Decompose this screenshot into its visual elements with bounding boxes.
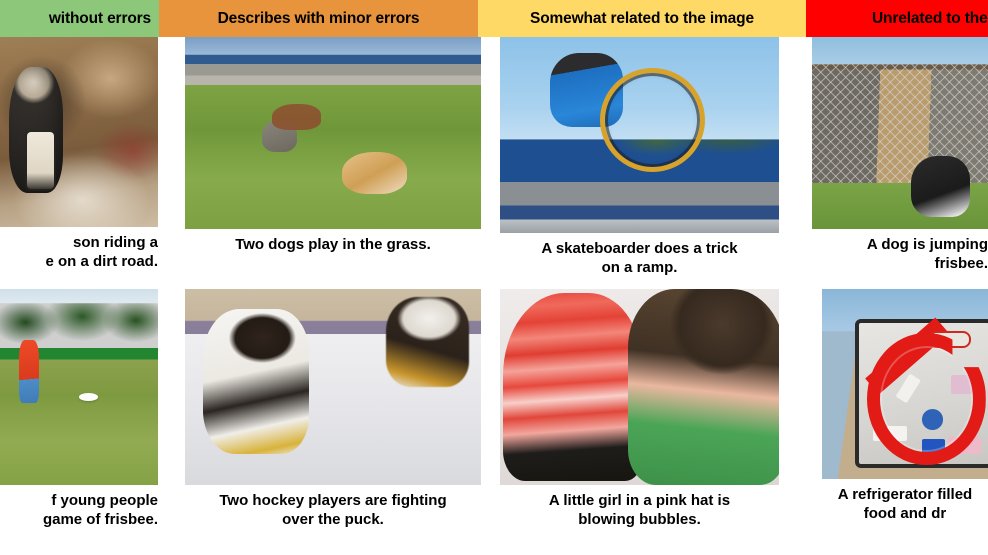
example-photo-no-parking-sign (822, 289, 988, 479)
example-photo-motocross-rider (0, 37, 158, 227)
caption-line: blowing bubbles. (500, 511, 779, 530)
example-caption: A refrigerator filled food and dr (822, 479, 988, 523)
sticker (922, 439, 945, 454)
caption-line: A little girl in a pink hat is (500, 492, 779, 511)
rubric-band-describes-with-minor-errors: Describes with minor errors (159, 0, 478, 37)
example-caption: Two hockey players are fighting over the… (185, 485, 481, 529)
caption-line: son riding a (0, 234, 158, 253)
rubric-band-unrelated: Unrelated to the (806, 0, 988, 37)
example-caption: A dog is jumping frisbee. (812, 229, 988, 273)
caption-line: A refrigerator filled (822, 486, 988, 505)
example-photo-two-children (500, 289, 779, 485)
sticker (948, 437, 981, 454)
sticker (928, 331, 971, 348)
figure-canvas: without errors Describes with minor erro… (0, 0, 988, 555)
example-caption: son riding a e on a dirt road. (0, 227, 158, 271)
example-grid: son riding a e on a dirt road. Two dogs … (0, 37, 988, 555)
rubric-header-band: without errors Describes with minor erro… (0, 0, 988, 37)
example-cell: A skateboarder does a trick on a ramp. (500, 37, 779, 289)
example-cell: A dog is jumping frisbee. (812, 37, 988, 289)
example-cell: son riding a e on a dirt road. (0, 37, 158, 289)
caption-line: over the puck. (185, 511, 481, 530)
photo-artwork (500, 289, 779, 485)
caption-line: Two dogs play in the grass. (185, 236, 481, 255)
example-caption: A skateboarder does a trick on a ramp. (500, 233, 779, 277)
example-cell: A refrigerator filled food and dr (822, 289, 988, 555)
rubric-band-label: Describes with minor errors (218, 10, 420, 28)
sticker (896, 374, 921, 404)
example-caption: Two dogs play in the grass. (185, 229, 481, 255)
example-photo-three-dogs-on-grass (185, 37, 481, 229)
photo-artwork (185, 289, 481, 485)
example-cell: Two dogs play in the grass. (185, 37, 481, 289)
example-row: f young people game of frisbee. Two hock… (0, 289, 988, 555)
example-caption: A little girl in a pink hat is blowing b… (500, 485, 779, 529)
photo-artwork (812, 37, 988, 229)
sticker (951, 375, 974, 394)
caption-line: food and dr (822, 505, 988, 524)
rubric-band-describes-without-errors: without errors (0, 0, 159, 37)
caption-line: A skateboarder does a trick (500, 240, 779, 259)
example-cell: A little girl in a pink hat is blowing b… (500, 289, 779, 555)
photo-artwork (0, 37, 158, 227)
photo-artwork (185, 37, 481, 229)
caption-line: game of frisbee. (0, 511, 158, 530)
rubric-band-label: Unrelated to the (872, 10, 988, 28)
photo-artwork (0, 289, 158, 485)
caption-line: f young people (0, 492, 158, 511)
sticker (873, 426, 906, 441)
caption-line: A dog is jumping (812, 236, 988, 255)
example-row: son riding a e on a dirt road. Two dogs … (0, 37, 988, 289)
caption-line: on a ramp. (500, 259, 779, 278)
example-photo-frisbee-player (0, 289, 158, 485)
rubric-band-label: Somewhat related to the image (530, 10, 754, 28)
caption-line: e on a dirt road. (0, 253, 158, 272)
example-caption: f young people game of frisbee. (0, 485, 158, 529)
caption-line: Two hockey players are fighting (185, 492, 481, 511)
rubric-band-label: without errors (49, 10, 151, 28)
photo-artwork (822, 289, 988, 479)
sticker (922, 409, 944, 430)
example-cell: f young people game of frisbee. (0, 289, 158, 555)
example-photo-hockey-players (185, 289, 481, 485)
example-photo-bmx-rider-on-ramp (500, 37, 779, 233)
rubric-band-somewhat-related: Somewhat related to the image (478, 0, 806, 37)
no-parking-slash-icon (865, 318, 949, 395)
caption-line: frisbee. (812, 255, 988, 274)
photo-artwork (500, 37, 779, 233)
example-cell: Two hockey players are fighting over the… (185, 289, 481, 555)
example-photo-dog-at-kennel (812, 37, 988, 229)
